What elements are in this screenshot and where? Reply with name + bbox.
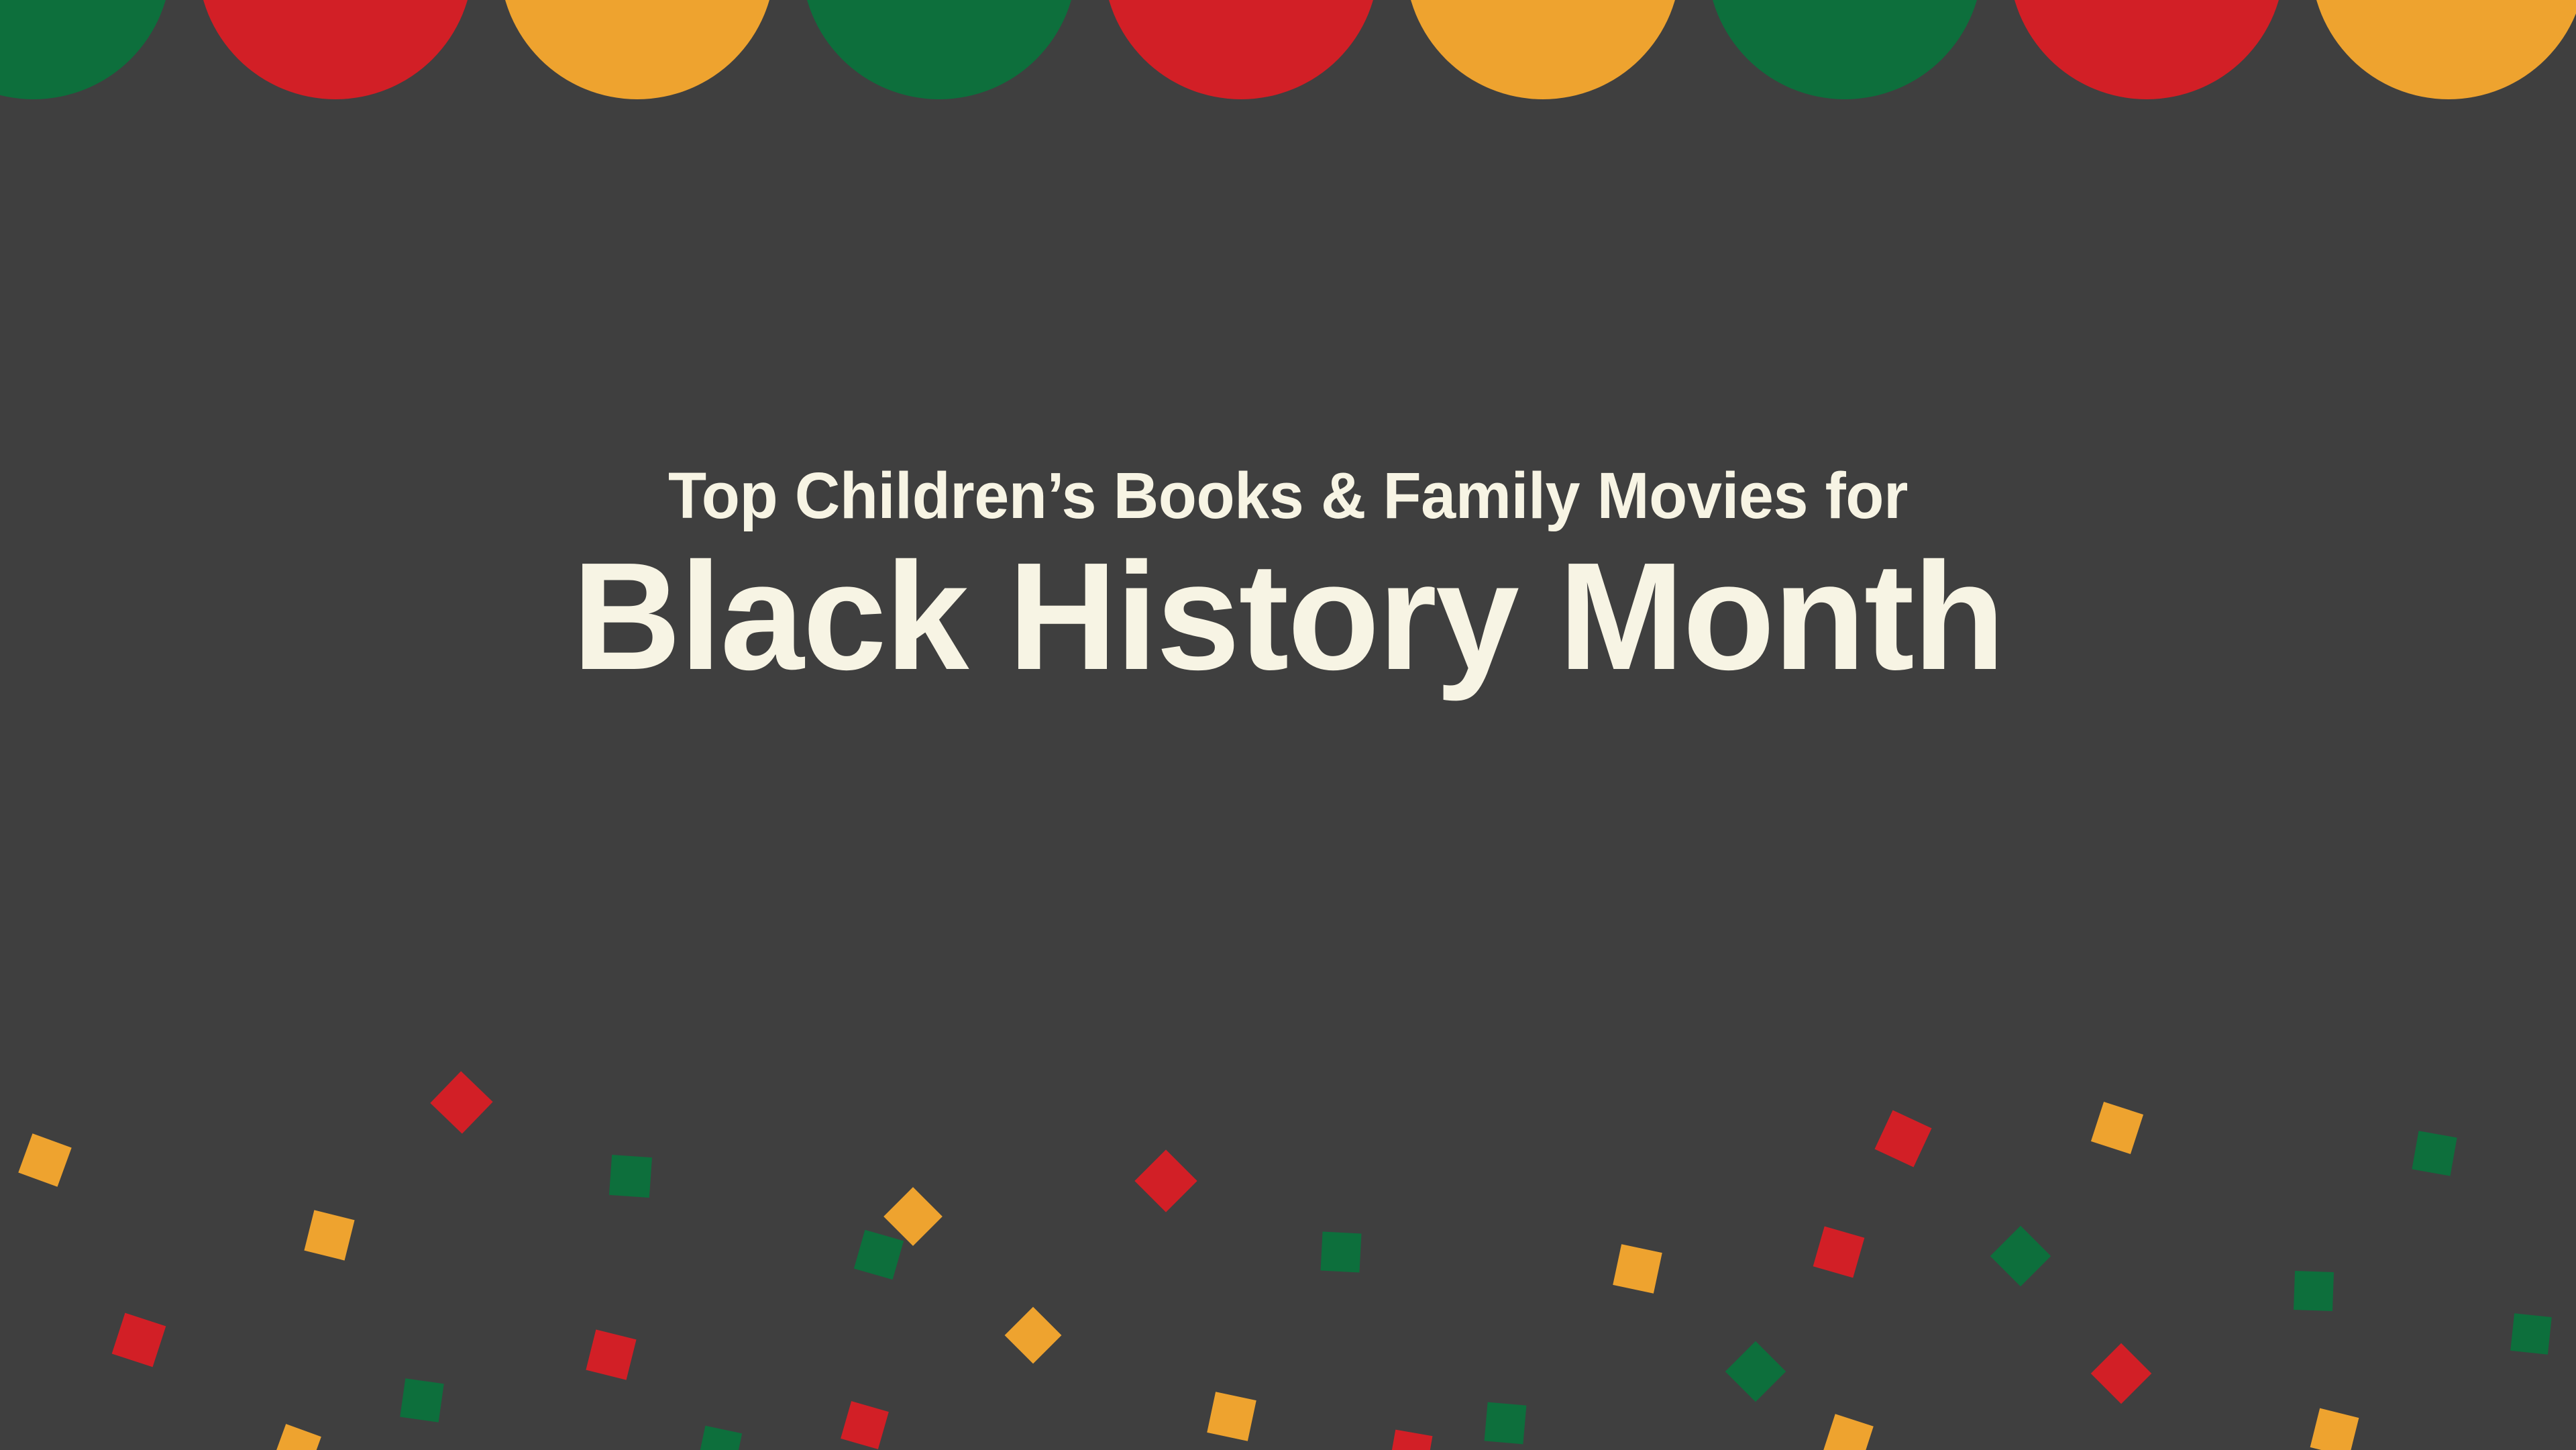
banner-background — [0, 0, 2576, 1450]
banner-eyebrow: Top Children’s Books & Family Movies for — [45, 463, 2531, 528]
page-title: Black History Month — [19, 540, 2557, 693]
banner-text-block: Top Children’s Books & Family Movies for… — [0, 463, 2576, 693]
banner-canvas: Top Children’s Books & Family Movies for… — [0, 0, 2576, 1450]
